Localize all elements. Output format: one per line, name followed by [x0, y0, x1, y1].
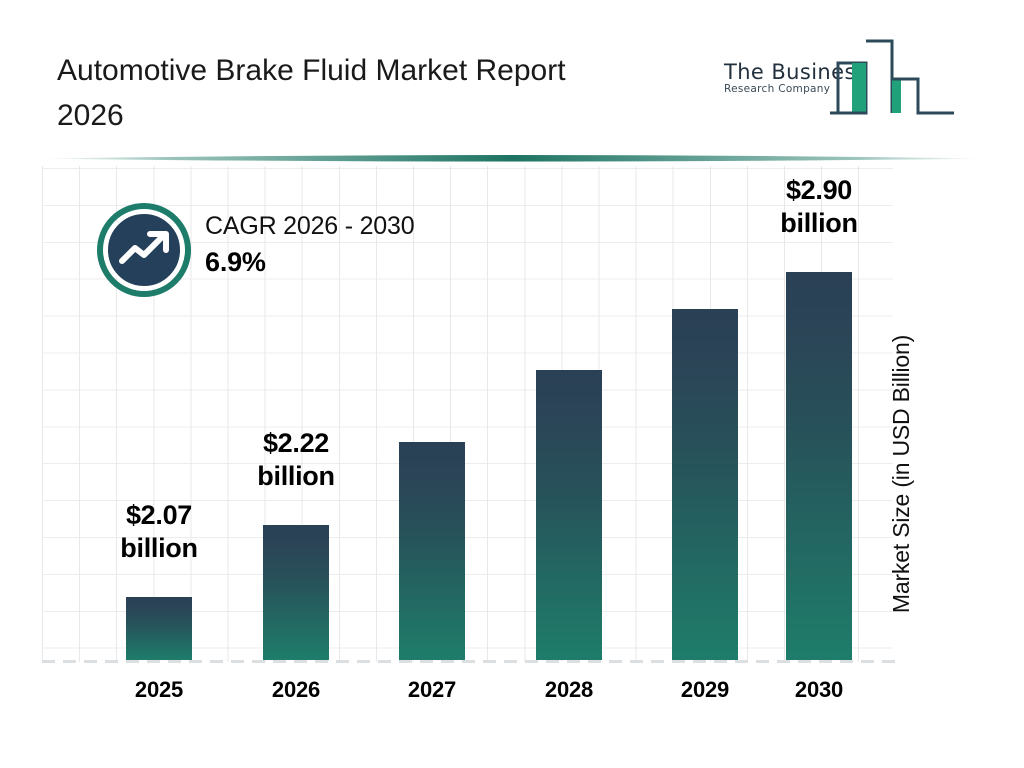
x-tick-2028: 2028	[536, 677, 602, 703]
x-tick-2025: 2025	[126, 677, 192, 703]
x-tick-2030: 2030	[786, 677, 852, 703]
bar-value-label-2030: $2.90 billion	[778, 174, 860, 240]
company-logo: The Business Research Company	[722, 33, 970, 123]
bar-2028	[536, 370, 602, 660]
x-tick-2026: 2026	[263, 677, 329, 703]
page-title: Automotive Brake Fluid Market Report 202…	[57, 48, 697, 138]
bar-chart-logo-mark-icon	[830, 33, 970, 128]
y-axis-label: Market Size (in USD Billion)	[888, 284, 924, 664]
market-size-bar-chart: $2.07 billion$2.22 billion$2.90 billion …	[0, 166, 1024, 768]
trending-up-icon	[97, 203, 191, 297]
bar-2029	[672, 309, 738, 660]
cagr-period-label: CAGR 2026 - 2030	[205, 209, 414, 243]
bar-value-label-2026: $2.22 billion	[255, 427, 337, 493]
bar-2025	[126, 597, 192, 660]
bar-2030	[786, 272, 852, 660]
bar-2027	[399, 442, 465, 660]
bar-2026	[263, 525, 329, 660]
x-tick-2029: 2029	[672, 677, 738, 703]
bar-value-label-2025: $2.07 billion	[118, 499, 200, 565]
cagr-badge: CAGR 2026 - 2030 6.9%	[97, 203, 517, 299]
x-tick-2027: 2027	[399, 677, 465, 703]
header-divider	[38, 150, 986, 166]
cagr-value: 6.9%	[205, 243, 414, 281]
report-header: Automotive Brake Fluid Market Report 202…	[0, 0, 1024, 152]
axis-baseline	[42, 660, 895, 663]
cagr-text-block: CAGR 2026 - 2030 6.9%	[205, 209, 414, 281]
